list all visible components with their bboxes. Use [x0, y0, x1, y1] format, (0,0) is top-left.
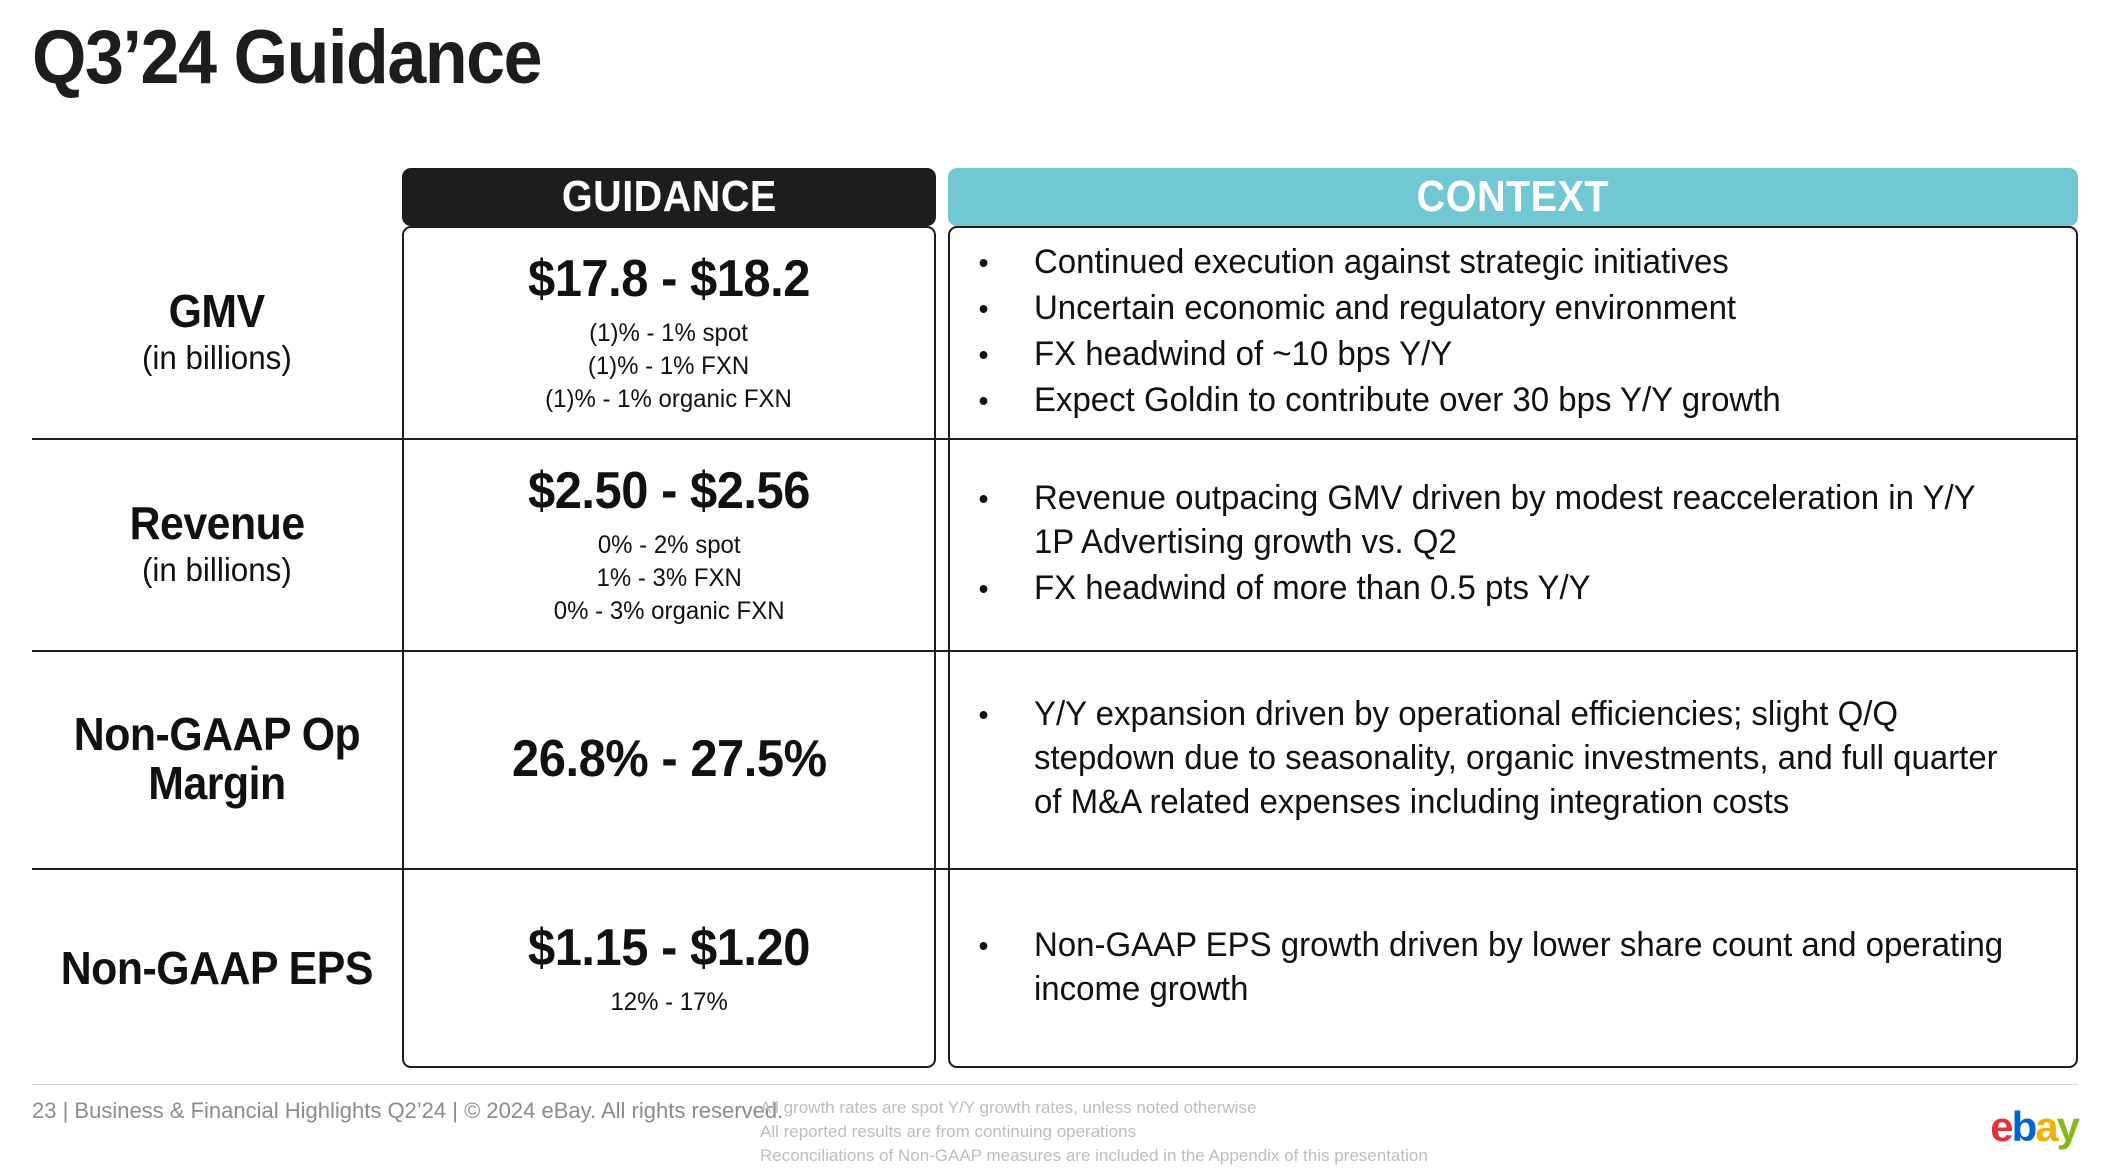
bullet-dot-icon	[980, 397, 988, 405]
guidance-cell: $17.8 - $18.2 (1)% - 1% spot (1)% - 1% F…	[402, 226, 936, 438]
metric-name: GMV	[169, 287, 265, 336]
guidance-note: (1)% - 1% spot	[546, 317, 793, 350]
guidance-cell: $1.15 - $1.20 12% - 17%	[402, 868, 936, 1068]
guidance-value: $2.50 - $2.56	[528, 461, 810, 521]
footnotes: All growth rates are spot Y/Y growth rat…	[760, 1096, 1428, 1168]
guidance-value: $1.15 - $1.20	[528, 918, 810, 978]
list-item: Expect Goldin to contribute over 30 bps …	[968, 378, 2021, 422]
guidance-value: $17.8 - $18.2	[528, 249, 810, 309]
bullet-dot-icon	[980, 495, 988, 503]
context-cell: Continued execution against strategic in…	[948, 226, 2078, 438]
metric-subtitle: (in billions)	[142, 552, 292, 588]
table-row: Revenue (in billions) $2.50 - $2.56 0% -…	[32, 438, 2078, 650]
bullet-dot-icon	[980, 942, 988, 950]
logo-letter-b: b	[2012, 1103, 2036, 1150]
table-row: Non-GAAP EPS $1.15 - $1.20 12% - 17% Non…	[32, 868, 2078, 1068]
footnote-line: All growth rates are spot Y/Y growth rat…	[760, 1096, 1428, 1120]
ebay-logo: ebay	[1990, 1106, 2078, 1148]
list-item: FX headwind of more than 0.5 pts Y/Y	[968, 566, 2021, 610]
list-item: Non-GAAP EPS growth driven by lower shar…	[968, 923, 2021, 1011]
list-item: Y/Y expansion driven by operational effi…	[968, 692, 2021, 825]
guidance-cell: 26.8% - 27.5%	[402, 650, 936, 868]
page-title: Q3’24 Guidance	[32, 14, 541, 101]
context-cell: Non-GAAP EPS growth driven by lower shar…	[948, 868, 2078, 1068]
guidance-note: 0% - 3% organic FXN	[554, 595, 785, 628]
metric-name: Revenue	[129, 499, 304, 548]
guidance-note: 0% - 2% spot	[554, 529, 785, 562]
list-item-text: Non-GAAP EPS growth driven by lower shar…	[1034, 926, 2003, 1008]
table-header-row: GUIDANCE CONTEXT	[32, 168, 2078, 226]
guidance-value: 26.8% - 27.5%	[512, 729, 827, 789]
metric-cell: Non-GAAP Op Margin	[32, 650, 402, 868]
bullet-dot-icon	[980, 711, 988, 719]
metric-name: Non-GAAP EPS	[61, 944, 373, 993]
logo-letter-a: a	[2035, 1103, 2056, 1150]
context-cell: Y/Y expansion driven by operational effi…	[948, 650, 2078, 868]
context-bullet-list: Revenue outpacing GMV driven by modest r…	[968, 476, 2054, 613]
guidance-note: (1)% - 1% organic FXN	[546, 383, 793, 416]
list-item: Continued execution against strategic in…	[968, 240, 2021, 284]
list-item-text: Y/Y expansion driven by operational effi…	[1034, 695, 1998, 821]
metric-cell: Non-GAAP EPS	[32, 868, 402, 1068]
bullet-dot-icon	[980, 351, 988, 359]
footer-attribution: 23 | Business & Financial Highlights Q2’…	[32, 1098, 783, 1124]
bullet-dot-icon	[980, 305, 988, 313]
table-row: GMV (in billions) $17.8 - $18.2 (1)% - 1…	[32, 226, 2078, 438]
context-bullet-list: Y/Y expansion driven by operational effi…	[968, 692, 2054, 827]
guidance-cell: $2.50 - $2.56 0% - 2% spot 1% - 3% FXN 0…	[402, 438, 936, 650]
table-row: Non-GAAP Op Margin 26.8% - 27.5% Y/Y exp…	[32, 650, 2078, 868]
list-item-text: Expect Goldin to contribute over 30 bps …	[1034, 381, 1781, 419]
context-bullet-list: Continued execution against strategic in…	[968, 240, 2054, 425]
guidance-note: (1)% - 1% FXN	[546, 350, 793, 383]
context-bullet-list: Non-GAAP EPS growth driven by lower shar…	[968, 923, 2054, 1013]
list-item-text: FX headwind of more than 0.5 pts Y/Y	[1034, 569, 1591, 607]
metric-cell: GMV (in billions)	[32, 226, 402, 438]
list-item: Uncertain economic and regulatory enviro…	[968, 286, 2021, 330]
list-item: FX headwind of ~10 bps Y/Y	[968, 332, 2021, 376]
footer-divider	[32, 1084, 2078, 1085]
guidance-notes: 12% - 17%	[610, 986, 727, 1019]
list-item-text: Revenue outpacing GMV driven by modest r…	[1034, 479, 1975, 561]
list-item-text: FX headwind of ~10 bps Y/Y	[1034, 335, 1452, 373]
column-header-context: CONTEXT	[948, 168, 2078, 226]
metric-subtitle: (in billions)	[142, 340, 292, 376]
metric-name: Non-GAAP Op Margin	[45, 710, 389, 808]
bullet-dot-icon	[980, 585, 988, 593]
footnote-line: All reported results are from continuing…	[760, 1120, 1428, 1144]
guidance-notes: 0% - 2% spot 1% - 3% FXN 0% - 3% organic…	[554, 529, 785, 628]
logo-letter-e: e	[1990, 1103, 2011, 1150]
guidance-table: GUIDANCE CONTEXT GMV (in billions) $17.8…	[32, 168, 2078, 1068]
guidance-note: 1% - 3% FXN	[554, 562, 785, 595]
bullet-dot-icon	[980, 259, 988, 267]
list-item: Revenue outpacing GMV driven by modest r…	[968, 476, 2021, 564]
guidance-note: 12% - 17%	[610, 986, 727, 1019]
metric-cell: Revenue (in billions)	[32, 438, 402, 650]
guidance-notes: (1)% - 1% spot (1)% - 1% FXN (1)% - 1% o…	[546, 317, 793, 416]
logo-letter-y: y	[2057, 1103, 2078, 1150]
column-header-guidance-label: GUIDANCE	[562, 172, 777, 222]
footnote-line: Reconciliations of Non-GAAP measures are…	[760, 1144, 1428, 1168]
context-cell: Revenue outpacing GMV driven by modest r…	[948, 438, 2078, 650]
list-item-text: Continued execution against strategic in…	[1034, 243, 1729, 281]
list-item-text: Uncertain economic and regulatory enviro…	[1034, 289, 1736, 327]
column-header-guidance: GUIDANCE	[402, 168, 936, 226]
column-header-context-label: CONTEXT	[1417, 172, 1609, 222]
